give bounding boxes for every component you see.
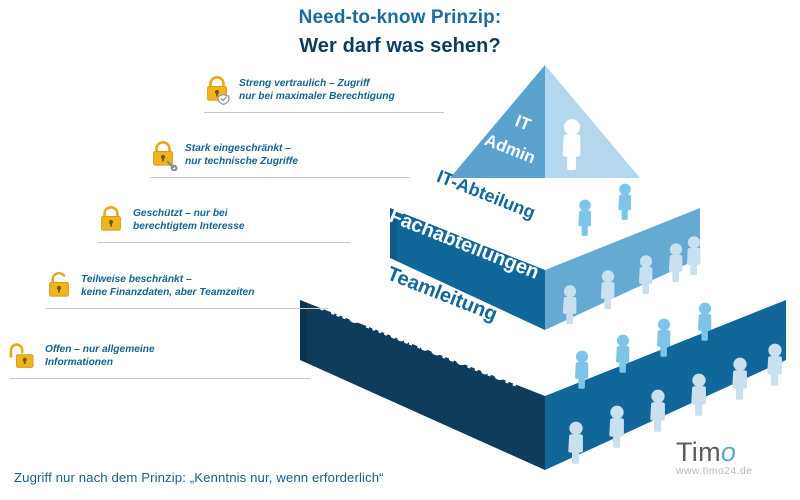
logo-text-main: Tim	[676, 437, 721, 467]
legend-line-2b: nur technische Zugriffe	[185, 155, 298, 168]
legend-line-3a: Geschützt – nur bei	[133, 207, 245, 220]
legend-item-2: Stark eingeschränkt – nur technische Zug…	[148, 139, 298, 171]
legend-line-1a: Streng vertraulich – Zugriff	[239, 77, 395, 90]
legend-item-5: Offen – nur allgemeine Informationen	[8, 340, 155, 372]
pyramid-diagram: Alle Mitarbeitenden Teamleitung	[0, 0, 800, 500]
legend-line-3b: berechtigtem Interesse	[133, 220, 245, 233]
legend-item-1: Streng vertraulich – Zugriff nur bei max…	[202, 74, 395, 106]
legend-line-2a: Stark eingeschränkt –	[185, 142, 298, 155]
legend-line-4a: Teilweise beschränkt –	[81, 273, 254, 286]
lock-closed-key-icon	[148, 139, 178, 171]
infographic-canvas: Need-to-know Prinzip: Wer darf was sehen…	[0, 0, 800, 500]
tier-base-edge	[300, 300, 307, 363]
legend-rule-4	[46, 308, 328, 309]
tier-it-admin: IT Admin	[450, 65, 640, 178]
lock-closed-shield-icon	[202, 74, 232, 106]
legend-line-5b: Informationen	[45, 356, 155, 369]
legend-item-4: Teilweise beschränkt – keine Finanzdaten…	[44, 270, 254, 302]
caption: Zugriff nur nach dem Prinzip: „Kenntnis …	[14, 470, 384, 485]
logo-url: www.timo24.de	[676, 465, 792, 477]
legend-item-3: Geschützt – nur bei berechtigtem Interes…	[96, 204, 245, 236]
legend-text-3: Geschützt – nur bei berechtigtem Interes…	[133, 204, 245, 233]
legend-line-4b: keine Finanzdaten, aber Teamzeiten	[81, 286, 254, 299]
lock-open-icon	[8, 340, 38, 372]
legend-line-5a: Offen – nur allgemeine	[45, 343, 155, 356]
legend-text-1: Streng vertraulich – Zugriff nur bei max…	[239, 74, 395, 103]
legend-rule-2	[150, 177, 410, 178]
tier-fachabteilungen: Fachabteilungen	[386, 205, 700, 330]
legend-line-1b: nur bei maximaler Berechtigung	[239, 90, 395, 103]
logo-accent-o: o	[721, 437, 736, 467]
legend-text-2: Stark eingeschränkt – nur technische Zug…	[185, 139, 298, 168]
legend-rule-1	[204, 112, 444, 113]
figure-group-it-abteilung	[578, 184, 631, 236]
tier-apex-right-face	[545, 65, 640, 178]
lock-ajar-icon	[44, 270, 74, 302]
legend-text-5: Offen – nur allgemeine Informationen	[45, 340, 155, 369]
lock-closed-icon	[96, 204, 126, 236]
legend-rule-3	[98, 242, 350, 243]
legend-text-4: Teilweise beschränkt – keine Finanzdaten…	[81, 270, 254, 299]
logo: Timo www.timo24.de	[676, 437, 792, 487]
logo-wordmark: Timo	[676, 437, 792, 467]
legend-rule-5	[10, 378, 310, 379]
